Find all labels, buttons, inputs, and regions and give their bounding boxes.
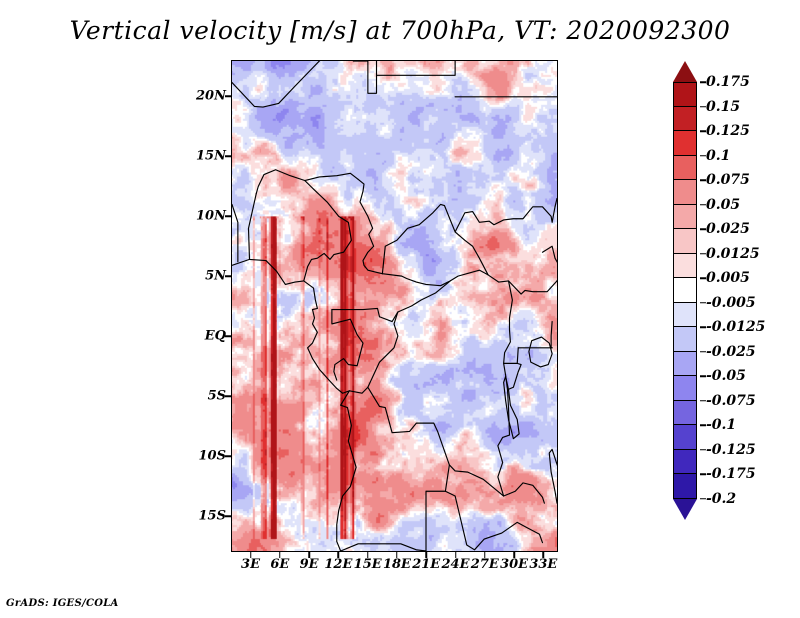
country-border-line (509, 483, 544, 503)
y-tick-label: 15N (196, 149, 226, 164)
country-border-line (332, 310, 363, 381)
y-tick-mark (225, 455, 231, 457)
colorbar-band (673, 254, 697, 279)
colorbar-band (673, 425, 697, 450)
y-tick-mark (225, 335, 231, 337)
country-border-line (551, 322, 552, 348)
country-border-line (504, 377, 520, 439)
colorbar-tick-label: 0.025 (706, 221, 750, 237)
x-tick-mark (425, 552, 427, 558)
y-tick-mark (225, 215, 231, 217)
country-border-line (353, 61, 376, 93)
x-tick-mark (484, 552, 486, 558)
colorbar-tick-label: 0.125 (706, 123, 750, 139)
country-border-line (304, 281, 350, 393)
colorbar-top-arrow (673, 61, 697, 82)
colorbar-band (673, 376, 697, 401)
country-border-line (382, 270, 488, 286)
colorbar-tick-label: -0.005 (706, 295, 756, 311)
colorbar (673, 82, 697, 499)
colorbar-tick-label: -0.125 (706, 442, 756, 458)
colorbar-band (673, 401, 697, 426)
colorbar-tick-label: 0.005 (706, 270, 750, 286)
country-border-line (332, 308, 380, 316)
colorbar-bottom-arrow (673, 499, 697, 520)
y-tick-label: 20N (196, 89, 226, 104)
colorbar-tick-label: -0.175 (706, 466, 756, 482)
colorbar-tick-label: -0.2 (706, 491, 736, 507)
colorbar-tick-label: 0.075 (706, 172, 750, 188)
x-tick-mark (367, 552, 369, 558)
map-plot-area (231, 60, 558, 552)
y-tick-mark (225, 515, 231, 517)
colorbar-band (673, 180, 697, 205)
y-tick-mark (225, 155, 231, 157)
y-tick-mark (225, 95, 231, 97)
colorbar-band (673, 156, 697, 181)
y-tick-label: 15S (199, 509, 226, 524)
colorbar-band (673, 131, 697, 156)
colorbar-band (673, 107, 697, 132)
y-tick-mark (225, 275, 231, 277)
y-tick-label: 10N (196, 209, 226, 224)
x-tick-mark (396, 552, 398, 558)
y-tick-label: 5N (205, 269, 226, 284)
x-axis-labels: 3E6E9E12E15E18E21E24E27E30E33E (0, 557, 800, 577)
x-tick-mark (455, 552, 457, 558)
country-border-line (377, 61, 456, 75)
page-title: Vertical velocity [m/s] at 700hPa, VT: 2… (0, 16, 800, 45)
x-tick-mark (513, 552, 515, 558)
colorbar-tick-label: -0.1 (706, 417, 736, 433)
country-border-line (542, 246, 557, 270)
x-tick-mark (308, 552, 310, 558)
colorbar-tick-label: -0.075 (706, 393, 756, 409)
y-tick-label: 5S (208, 389, 226, 404)
country-border-line (341, 544, 426, 551)
colorbar-band (673, 474, 697, 499)
country-borders-overlay (232, 61, 557, 551)
country-border-line (508, 363, 522, 389)
colorbar-tick-label: 0.0125 (706, 246, 760, 262)
country-border-line (337, 391, 356, 551)
colorbar-tick-label: 0.175 (706, 74, 750, 90)
country-border-line (455, 207, 555, 232)
country-border-line (382, 204, 488, 275)
country-border-line (445, 491, 542, 550)
y-tick-label: EQ (205, 329, 226, 344)
y-tick-label: 10S (199, 449, 226, 464)
country-border-line (549, 449, 557, 503)
y-axis-labels: 20N15N10N5NEQ5S10S15S (192, 0, 226, 618)
colorbar-tick-label: 0.1 (706, 148, 730, 164)
x-axis-ticks (0, 552, 800, 560)
x-tick-mark (250, 552, 252, 558)
colorbar-band (673, 327, 697, 352)
country-border-line (488, 275, 525, 294)
country-border-line (555, 198, 557, 206)
y-tick-mark (225, 395, 231, 397)
colorbar-band (673, 82, 697, 107)
country-border-line (349, 387, 509, 496)
colorbar-band (673, 352, 697, 377)
colorbar-labels: 0.1750.150.1250.10.0750.050.0250.01250.0… (700, 0, 800, 618)
colorbar-tick-label: -0.0125 (706, 319, 765, 335)
colorbar-band (673, 278, 697, 303)
x-tick-mark (338, 552, 340, 558)
country-border-line (256, 170, 358, 194)
colorbar-tick-label: -0.025 (706, 344, 756, 360)
country-border-line (232, 61, 319, 107)
y-axis-ticks (225, 0, 233, 618)
attribution-footer: GrADS: IGES/COLA (6, 598, 119, 609)
colorbar-band (673, 303, 697, 328)
country-border-line (304, 181, 352, 281)
country-border-line (426, 465, 449, 551)
x-tick-mark (279, 552, 281, 558)
country-border-line (529, 337, 552, 367)
colorbar-band (673, 450, 697, 475)
x-tick-mark (543, 552, 545, 558)
country-border-line (248, 194, 256, 260)
country-border-line (525, 281, 557, 292)
colorbar-band (673, 205, 697, 230)
country-border-line (379, 281, 450, 322)
colorbar-tick-label: 0.15 (706, 99, 740, 115)
colorbar-tick-label: -0.05 (706, 368, 746, 384)
colorbar-band (673, 229, 697, 254)
country-border-line (368, 312, 398, 387)
country-border-line (358, 179, 382, 273)
country-border-line (232, 259, 304, 284)
colorbar-tick-label: 0.05 (706, 197, 740, 213)
